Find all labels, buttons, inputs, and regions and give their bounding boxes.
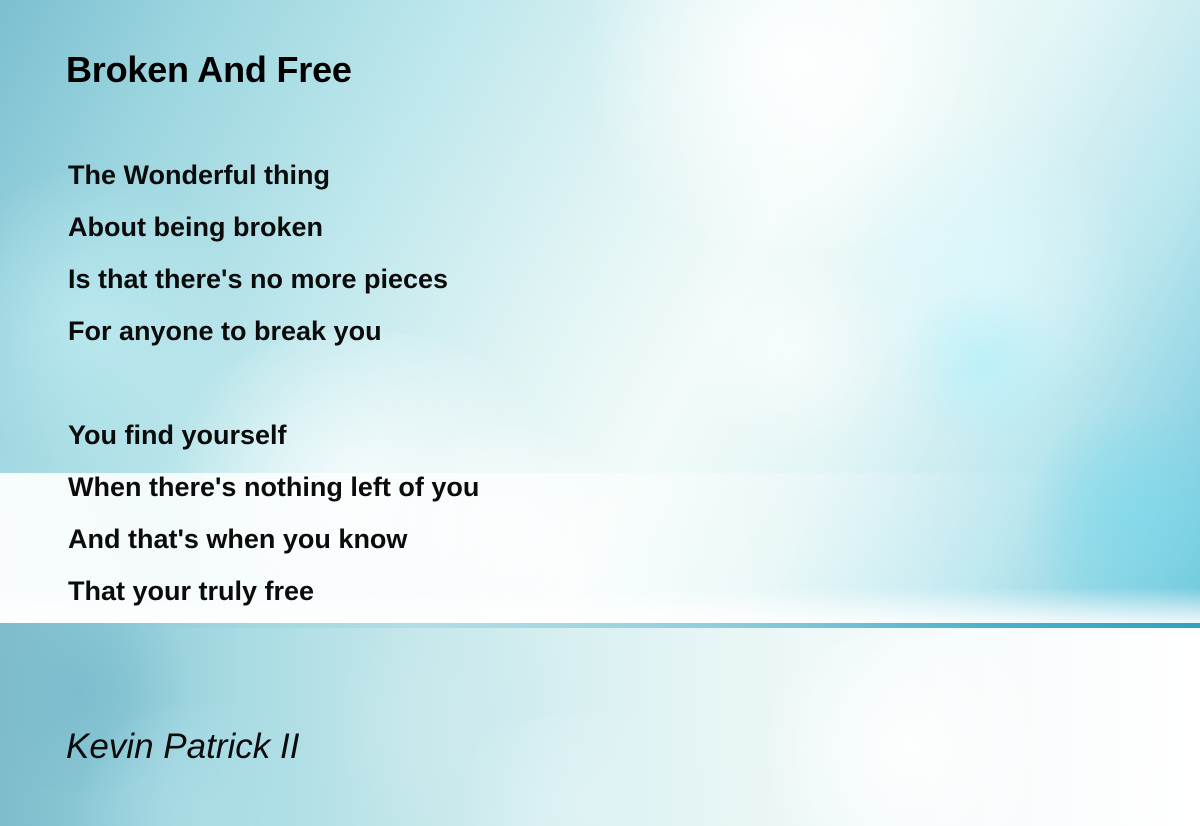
author-name: Kevin Patrick II	[66, 726, 299, 768]
bokeh-highlight-icon	[560, 0, 1030, 250]
poem-body: The Wonderful thing About being broken I…	[68, 155, 479, 623]
poem-stanza-break	[68, 363, 479, 415]
poem-line: That your truly free	[68, 571, 479, 623]
poem-line: The Wonderful thing	[68, 155, 479, 207]
bokeh-highlight-icon	[830, 120, 1130, 420]
poem-line: When there's nothing left of you	[68, 467, 479, 519]
poem-line: For anyone to break you	[68, 311, 479, 363]
page-title: Broken And Free	[66, 52, 352, 88]
poem-line: Is that there's no more pieces	[68, 259, 479, 311]
bokeh-highlight-icon	[690, 250, 890, 450]
poem-line: You find yourself	[68, 415, 479, 467]
author-background-panel	[0, 623, 1200, 826]
bokeh-highlight-icon	[900, 280, 1070, 450]
bokeh-highlight-icon	[430, 713, 750, 826]
bokeh-highlight-icon	[740, 633, 1080, 826]
panel-divider	[0, 623, 1200, 628]
poem-line: And that's when you know	[68, 519, 479, 571]
poem-line: About being broken	[68, 207, 479, 259]
poem-card: Broken And Free The Wonderful thing Abou…	[0, 0, 1200, 826]
bokeh-highlight-icon	[330, 623, 590, 826]
